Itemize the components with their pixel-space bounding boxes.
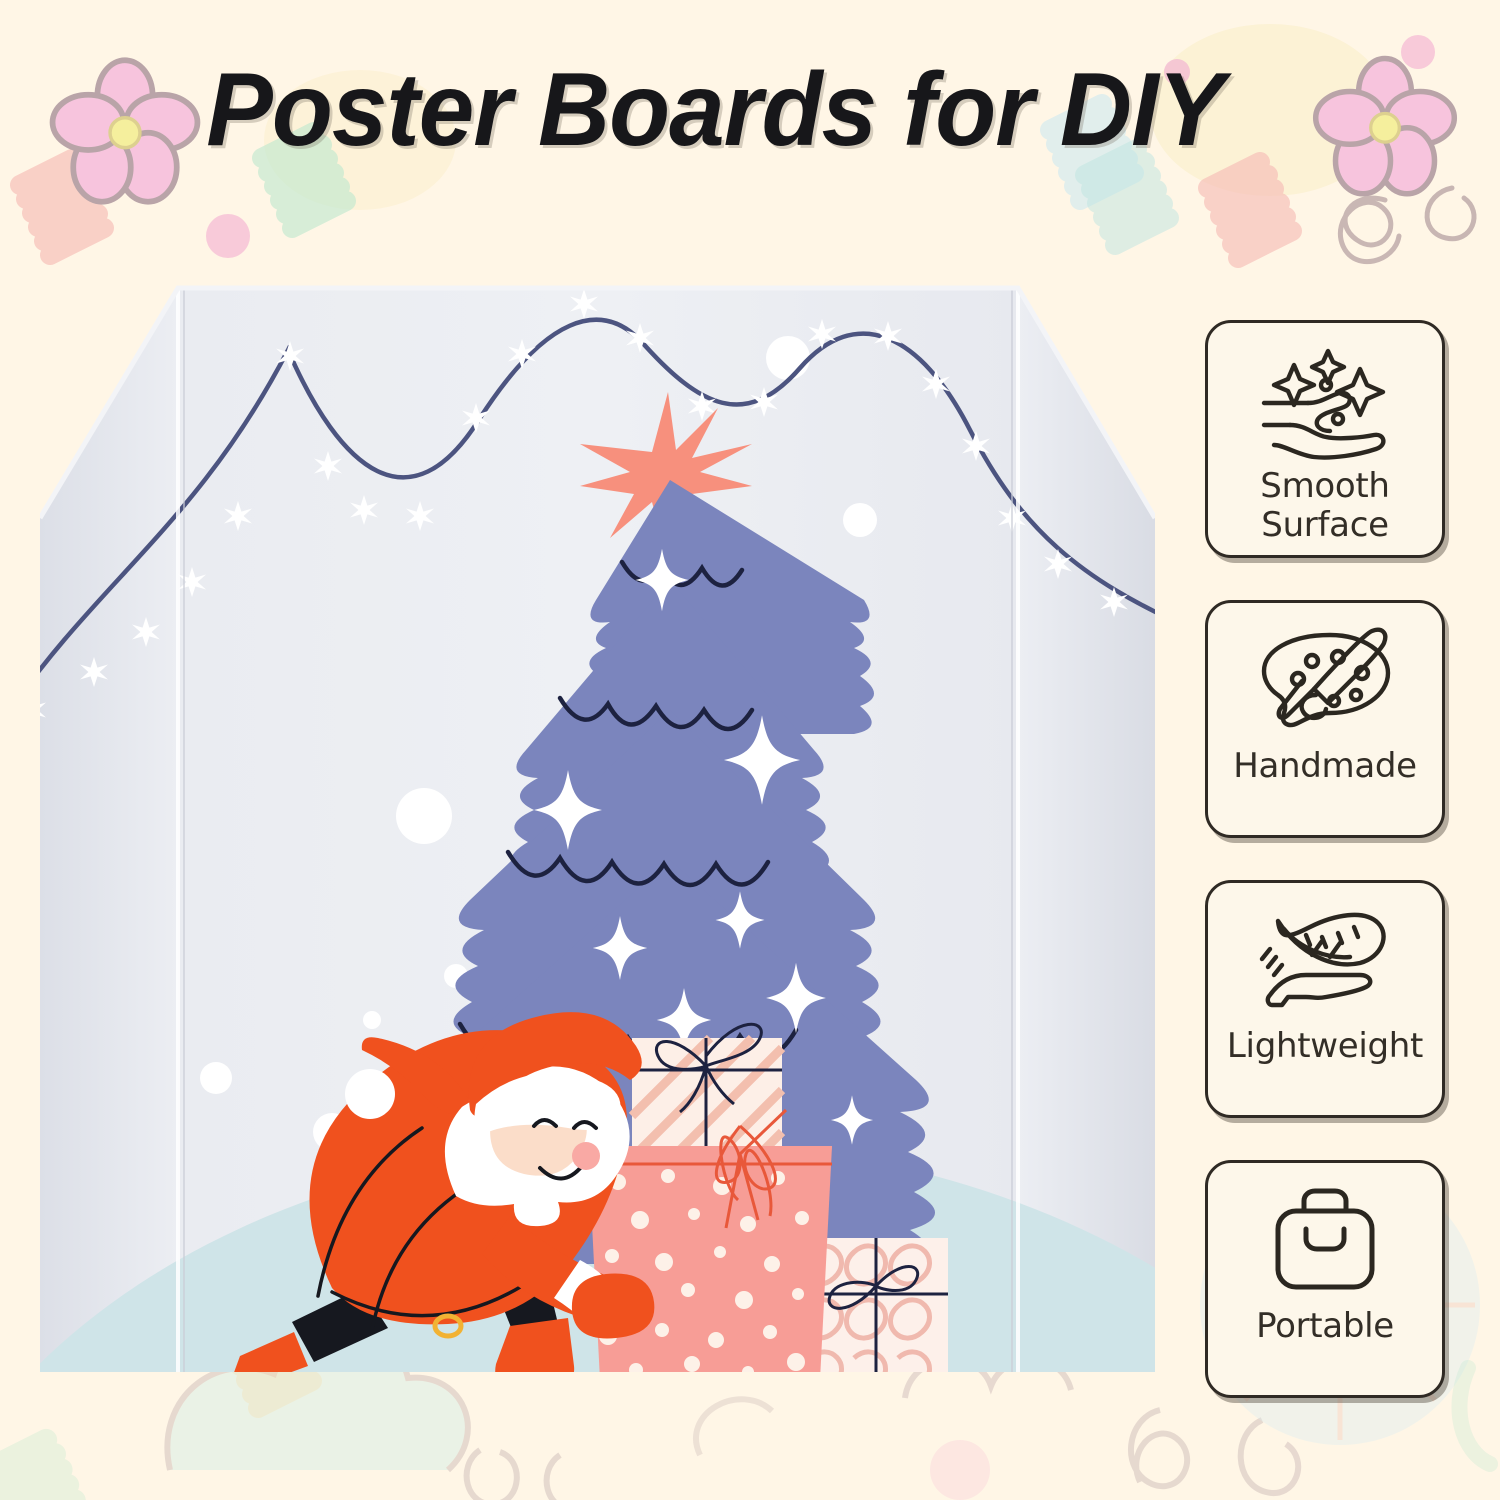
badge-label-line2: Surface — [1208, 506, 1442, 545]
feather-over-hand-icon — [1250, 901, 1400, 1021]
badge-handmade[interactable]: Handmade — [1205, 600, 1445, 838]
badge-label-line1: Portable — [1208, 1307, 1442, 1346]
badge-label: Lightweight — [1208, 1027, 1442, 1066]
hand-with-sparkles-icon — [1250, 341, 1400, 461]
briefcase-icon — [1250, 1181, 1400, 1301]
badge-label-line1: Smooth — [1208, 467, 1442, 506]
badge-label-line1: Lightweight — [1208, 1027, 1442, 1066]
badge-smooth-surface[interactable]: Smooth Surface — [1205, 320, 1445, 558]
badge-portable[interactable]: Portable — [1205, 1160, 1445, 1398]
product-marketing-image: Poster Boards for DIY — [0, 0, 1500, 1500]
feature-badge-list: Smooth Surface Handmade — [1205, 320, 1450, 1440]
badge-label: Portable — [1208, 1307, 1442, 1346]
page-title-wrap: Poster Boards for DIY — [0, 56, 1430, 164]
badge-lightweight[interactable]: Lightweight — [1205, 880, 1445, 1118]
badge-label-line1: Handmade — [1208, 747, 1442, 786]
badge-label: Handmade — [1208, 747, 1442, 786]
page-title: Poster Boards for DIY — [206, 56, 1223, 164]
badge-label: Smooth Surface — [1208, 467, 1442, 545]
paint-palette-brush-icon — [1250, 621, 1400, 741]
tri-fold-poster-board — [40, 280, 1155, 1380]
